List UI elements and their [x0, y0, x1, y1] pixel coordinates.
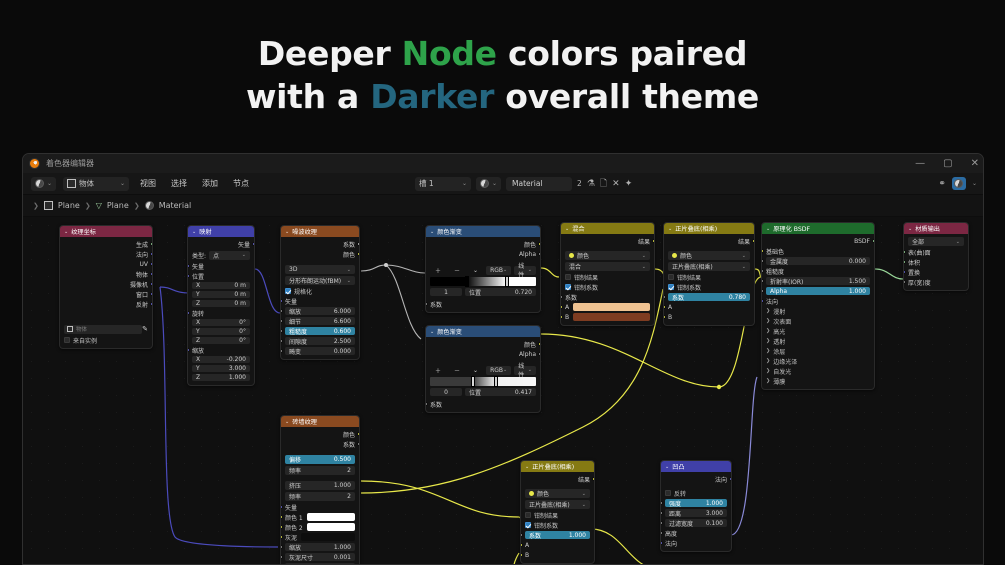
mortar-smooth-field[interactable]: 灰泥平滑1.000	[285, 563, 355, 564]
socket-label: 系数	[343, 240, 355, 249]
input-socket[interactable]	[761, 259, 764, 263]
color-b-swatch[interactable]	[573, 313, 650, 321]
color-ramp-gradient[interactable]	[430, 277, 536, 286]
input-socket[interactable]	[903, 260, 906, 264]
group-thin-film[interactable]: ❯薄膜	[766, 377, 870, 385]
mesh-data-icon: ▽	[96, 201, 102, 210]
input-socket[interactable]	[280, 505, 283, 509]
scale-z-field[interactable]: Z1.000	[192, 374, 250, 381]
output-socket[interactable]	[752, 239, 755, 243]
input-socket[interactable]	[761, 269, 764, 273]
object-icon	[67, 326, 73, 332]
socket-label: 厚(宽)度	[908, 278, 931, 287]
socket-label: 反射	[136, 300, 148, 309]
page-headline: Deeper Node colors paired with a Darker …	[0, 0, 1005, 119]
mortar-size-field[interactable]: 灰泥尺寸0.001	[285, 553, 355, 561]
socket-label: 窗口	[136, 290, 148, 299]
chevron-down-icon: ⌄	[120, 180, 125, 187]
checkbox-icon	[565, 284, 571, 290]
menu-node[interactable]: 节点	[229, 178, 253, 189]
shading-type-dropdown[interactable]: 物体 ⌄	[63, 177, 129, 191]
clamp-factor-checkbox[interactable]: 钳制系数	[668, 283, 750, 291]
node-noise-texture[interactable]: ⌄ 噪波纹理 系数 颜色 3D⌄ 分形布朗运动(fBM)⌄ 规格化 矢量 缩放6…	[280, 225, 360, 360]
input-socket[interactable]	[903, 280, 906, 284]
menu-view[interactable]: 视图	[136, 178, 160, 189]
checkbox-icon	[668, 284, 674, 290]
breadcrumb-item-object[interactable]: Plane	[58, 201, 80, 210]
breadcrumb: ❯ Plane ❯ ▽ Plane ❯ Material	[23, 195, 983, 217]
copy-icon[interactable]: 🗋	[600, 176, 607, 192]
socket-label: 法向	[136, 250, 148, 259]
rotation-x-field[interactable]: X0°	[192, 319, 250, 326]
overlay-icon	[954, 179, 963, 188]
chevron-down-icon[interactable]: ⌄	[285, 229, 289, 235]
node-header[interactable]: ⌄ 正片叠底(相乘)	[664, 223, 754, 234]
input-socket[interactable]	[280, 309, 283, 313]
blend-mode-dropdown[interactable]: 正片叠底(相乘)⌄	[525, 500, 590, 509]
socket-label: 矢量	[285, 297, 297, 306]
ramp-stop[interactable]	[465, 276, 469, 287]
input-socket[interactable]	[280, 525, 283, 529]
data-type-dropdown[interactable]: 颜色⌄	[525, 489, 590, 498]
socket-label: 系数	[430, 400, 442, 409]
color-a-swatch[interactable]	[573, 303, 650, 311]
group-coat[interactable]: ❯涂层	[766, 347, 870, 355]
object-field[interactable]: 物体	[64, 325, 142, 334]
breadcrumb-separator: ❯	[85, 202, 91, 210]
shield-icon[interactable]: ⚗	[587, 179, 595, 189]
input-socket[interactable]	[660, 501, 663, 505]
roughness-field[interactable]: 粗糙度0.600	[285, 327, 355, 335]
editor-toolbar: ⌄ 物体 ⌄ 视图 选择 添加 节点 槽 1 ⌄ ⌄ Material 2 ⚗ …	[23, 173, 983, 195]
factor-field[interactable]: 系数1.000	[525, 531, 590, 539]
squash-field[interactable]: 挤压1.000	[285, 481, 355, 490]
input-socket[interactable]	[280, 515, 283, 519]
socket-label: 体积	[908, 258, 920, 267]
input-socket[interactable]	[280, 349, 283, 353]
lacunarity-field[interactable]: 间隙度2.500	[285, 337, 355, 345]
close-icon[interactable]: ✕	[971, 158, 979, 169]
node-header[interactable]: ⌄ 纹理坐标	[60, 226, 152, 237]
clamp-result-checkbox[interactable]: 钳制结果	[565, 273, 650, 281]
input-socket[interactable]	[187, 274, 190, 278]
clamp-factor-checkbox[interactable]: 钳制系数	[565, 283, 650, 291]
from-instance-checkbox[interactable]: 来自实例	[64, 336, 148, 344]
slot-label: 槽 1	[419, 178, 434, 189]
node-header[interactable]: ⌄ 材质输出	[904, 223, 968, 234]
chevron-right-icon: ❯	[766, 328, 770, 334]
input-socket[interactable]	[663, 305, 666, 309]
output-socket[interactable]	[729, 477, 732, 481]
node-texture-coordinate[interactable]: ⌄ 纹理坐标 生成 法向 UV 物体 摄像机 窗口 反射 物体 ✎	[59, 225, 153, 349]
chevron-down-icon[interactable]: ⌄	[972, 180, 977, 187]
output-socket[interactable]	[150, 292, 153, 296]
socket-label: 表(曲)面	[908, 248, 931, 257]
socket-label: 系数	[565, 293, 577, 302]
blender-window: 着色器编辑器 — ▢ ✕ ⌄ 物体 ⌄ 视图 选择 添加 节点 槽 1 ⌄ ⌄	[22, 153, 984, 565]
dimension-dropdown[interactable]: 3D⌄	[285, 265, 355, 274]
mapping-type-dropdown[interactable]: 点⌄	[209, 251, 250, 260]
object-field-value: 物体	[76, 325, 87, 333]
node-header[interactable]: ⌄ 映射	[188, 226, 254, 237]
ramp-index-field[interactable]: 1	[430, 288, 462, 296]
output-socket[interactable]	[150, 272, 153, 276]
input-socket[interactable]	[761, 299, 764, 303]
clamp-result-checkbox[interactable]: 钳制结果	[668, 273, 750, 281]
headline-part1: Deeper	[258, 34, 402, 73]
socket-label: 颜色 1	[285, 513, 303, 522]
output-socket[interactable]	[872, 239, 875, 243]
socket-label: 系数	[430, 300, 442, 309]
metallic-field[interactable]: 金属度0.000	[766, 257, 870, 265]
ramp-menu-button[interactable]: ⌄	[468, 267, 483, 274]
chevron-down-icon[interactable]: ⌄	[430, 329, 434, 335]
color1-swatch[interactable]	[307, 513, 355, 521]
overlay-toggle[interactable]	[952, 177, 966, 190]
breadcrumb-item-material[interactable]: Material	[159, 201, 192, 210]
socket-label: 法向	[665, 539, 677, 548]
group-specular[interactable]: ❯高光	[766, 327, 870, 335]
location-x-field[interactable]: X0 m	[192, 282, 250, 289]
node-title: 正片叠底(相乘)	[675, 224, 717, 233]
chevron-down-icon[interactable]: ⌄	[285, 419, 289, 425]
scale-field[interactable]: 缩放1.000	[285, 543, 355, 551]
detail-field[interactable]: 细节6.600	[285, 317, 355, 325]
editor-type-button[interactable]: ⌄	[31, 177, 56, 191]
interpolation-dropdown[interactable]: 线性⌄	[514, 266, 536, 275]
node-multiply-1[interactable]: ⌄ 正片叠底(相乘) 结果 颜色⌄ 正片叠底(相乘)⌄ 钳制结果 钳制系数 系数…	[663, 222, 755, 326]
node-principled-bsdf[interactable]: ⌄ 原理化 BSDF BSDF 基础色 金属度0.000 粗糙度 折射率(IOR…	[761, 222, 875, 390]
output-socket[interactable]	[150, 262, 153, 266]
ramp-index-field[interactable]: 0	[430, 388, 462, 396]
add-stop-button[interactable]: ＋	[430, 266, 446, 275]
toolbar-right-tools: ⚭ ⌄	[938, 177, 977, 190]
input-socket[interactable]	[560, 295, 563, 299]
factor-field[interactable]: 系数0.780	[668, 293, 750, 301]
invert-checkbox[interactable]: 反转	[665, 489, 727, 497]
node-header[interactable]: ⌄ 颜色渐变	[426, 226, 540, 237]
mortar-swatch[interactable]	[301, 533, 355, 541]
ramp-stop-selected[interactable]	[471, 376, 475, 387]
shading-type-label: 物体	[79, 178, 94, 189]
input-socket[interactable]	[280, 299, 283, 303]
color-mode-dropdown[interactable]: RGB⌄	[486, 266, 511, 275]
node-title: 噪波纹理	[292, 227, 317, 236]
socket-label: 矢量	[192, 262, 204, 271]
snap-icon[interactable]: ⚭	[938, 179, 946, 189]
add-stop-button[interactable]: ＋	[430, 366, 446, 375]
node-title: 纹理坐标	[71, 227, 96, 236]
group-sheen[interactable]: ❯边缘光泽	[766, 357, 870, 365]
group-diffuse[interactable]: ❯漫射	[766, 307, 870, 315]
input-socket[interactable]	[663, 315, 666, 319]
material-browse-button[interactable]: ⌄	[476, 177, 501, 191]
output-socket[interactable]	[538, 342, 541, 346]
chevron-down-icon[interactable]: ⌄	[908, 226, 912, 232]
node-title: 映射	[199, 227, 211, 236]
normalize-checkbox[interactable]: 规格化	[285, 287, 355, 295]
ramp-stop-selected[interactable]	[505, 276, 509, 287]
location-y-field[interactable]: Y0 m	[192, 291, 250, 298]
input-socket[interactable]	[280, 555, 283, 559]
input-socket[interactable]	[903, 270, 906, 274]
material-name-field[interactable]: Material	[506, 177, 572, 191]
group-subsurface[interactable]: ❯次表面	[766, 317, 870, 325]
output-socket[interactable]	[252, 242, 255, 246]
chevron-down-icon[interactable]: ⌄	[766, 226, 770, 232]
window-title: 着色器编辑器	[46, 158, 94, 169]
minimize-icon[interactable]: —	[915, 158, 925, 169]
socket-label: 矢量	[238, 240, 250, 249]
blend-mode-dropdown[interactable]: 正片叠底(相乘)⌄	[668, 262, 750, 271]
distortion-field[interactable]: 畸变0.000	[285, 347, 355, 355]
rotation-y-field[interactable]: Y0°	[192, 328, 250, 335]
input-socket[interactable]	[280, 319, 283, 323]
input-socket[interactable]	[187, 348, 190, 352]
material-icon	[145, 201, 154, 210]
headline-accent-darker: Darker	[370, 77, 494, 116]
window-controls: — ▢ ✕	[915, 154, 979, 173]
socket-label: B	[668, 314, 672, 321]
headline-part2: colors paired	[497, 34, 747, 73]
output-socket[interactable]	[150, 302, 153, 306]
node-material-output[interactable]: ⌄ 材质输出 全部⌄ 表(曲)面 体积 置换 厚(宽)度	[903, 222, 969, 291]
socket-label: 物体	[136, 270, 148, 279]
node-title: 砖墙纹理	[292, 417, 317, 426]
output-socket[interactable]	[357, 442, 360, 446]
input-socket[interactable]	[280, 339, 283, 343]
checkbox-icon	[525, 512, 531, 518]
input-socket[interactable]	[280, 329, 283, 333]
output-socket[interactable]	[652, 239, 655, 243]
input-socket[interactable]	[663, 295, 666, 299]
headline-part4: overall theme	[494, 77, 759, 116]
blender-logo-icon	[29, 158, 40, 169]
chevron-right-icon: ❯	[766, 368, 770, 374]
checkbox-icon	[668, 274, 674, 280]
node-multiply-2[interactable]: ⌄ 正片叠底(相乘) 结果 颜色⌄ 正片叠底(相乘)⌄ 钳制结果 钳制系数 系数…	[520, 460, 595, 564]
node-editor-canvas[interactable]: ⌄ 纹理坐标 生成 法向 UV 物体 摄像机 窗口 反射 物体 ✎	[23, 217, 983, 564]
output-socket[interactable]	[592, 477, 595, 481]
node-title: 材质输出	[915, 224, 940, 233]
socket-label: 颜色	[524, 340, 536, 349]
input-socket[interactable]	[903, 250, 906, 254]
group-label: 缩放	[192, 346, 204, 355]
input-socket[interactable]	[280, 545, 283, 549]
headline-accent-node: Node	[402, 34, 497, 73]
filter-width-field[interactable]: 过滤宽度0.100	[665, 519, 727, 527]
input-socket[interactable]	[560, 315, 563, 319]
socket-label: B	[565, 314, 569, 321]
checkbox-label: 来自实例	[73, 336, 97, 345]
input-socket[interactable]	[520, 533, 523, 537]
breadcrumb-expand-icon[interactable]: ❯	[33, 202, 39, 210]
data-type-dropdown[interactable]: 颜色⌄	[565, 251, 650, 260]
squash-frequency-field[interactable]: 频率2	[285, 492, 355, 501]
chevron-right-icon: ❯	[766, 378, 770, 384]
node-title: 原理化 BSDF	[773, 224, 810, 233]
fractal-type-dropdown[interactable]: 分形布朗运动(fBM)⌄	[285, 276, 355, 285]
chevron-right-icon: ❯	[766, 338, 770, 344]
group-emission[interactable]: ❯自发光	[766, 367, 870, 375]
output-socket[interactable]	[150, 242, 153, 246]
type-label: 类型:	[192, 251, 206, 260]
chevron-down-icon[interactable]: ⌄	[525, 464, 529, 470]
location-z-field[interactable]: Z0 m	[192, 300, 250, 307]
ior-field[interactable]: 折射率(IOR)1.500	[766, 277, 870, 285]
node-title: 混合	[572, 224, 584, 233]
node-color-ramp-1[interactable]: ⌄ 颜色渐变 颜色 Alpha ＋ － ⌄ RGB⌄ 线性⌄	[425, 225, 541, 313]
color-ramp-gradient[interactable]	[430, 377, 536, 386]
output-socket[interactable]	[357, 242, 360, 246]
socket-label: 法向	[766, 297, 778, 306]
node-mapping[interactable]: ⌄ 映射 矢量 类型: 点⌄ 矢量 位置 X0 m Y0 m Z0 m 旋转 X…	[187, 225, 255, 386]
socket-label: 矢量	[285, 503, 297, 512]
socket-label: Alpha	[519, 351, 536, 358]
data-type-dropdown[interactable]: 颜色⌄	[668, 251, 750, 260]
input-socket[interactable]	[425, 302, 428, 306]
clamp-factor-checkbox[interactable]: 钳制系数	[525, 521, 590, 529]
input-socket[interactable]	[660, 541, 663, 545]
input-socket[interactable]	[280, 535, 283, 539]
object-icon	[44, 201, 53, 210]
chevron-down-icon[interactable]: ⌄	[565, 226, 569, 232]
node-color-ramp-2[interactable]: ⌄ 颜色渐变 颜色 Alpha ＋ － ⌄ RGB⌄ 线性⌄	[425, 325, 541, 413]
offset-field[interactable]: 偏移0.500	[285, 455, 355, 464]
node-bump[interactable]: ⌄ 凹凸 法向 反转 强度1.000 距离3.000 过滤宽度0.100 高度 …	[660, 460, 732, 552]
node-header[interactable]: ⌄ 正片叠底(相乘)	[521, 461, 594, 472]
input-socket[interactable]	[660, 521, 663, 525]
input-socket[interactable]	[187, 311, 190, 315]
chevron-down-icon[interactable]: ⌄	[665, 464, 669, 470]
color2-swatch[interactable]	[307, 523, 355, 531]
pin-icon[interactable]: ✦	[625, 179, 633, 189]
socket-label: 颜色	[343, 250, 355, 259]
scale-x-field[interactable]: X-0.200	[192, 356, 250, 363]
group-transmission[interactable]: ❯透射	[766, 337, 870, 345]
target-dropdown[interactable]: 全部⌄	[908, 237, 964, 246]
chevron-right-icon: ❯	[766, 358, 770, 364]
socket-label: BSDF	[854, 238, 870, 245]
offset-frequency-field[interactable]: 频率2	[285, 466, 355, 475]
interpolation-dropdown[interactable]: 线性⌄	[514, 366, 536, 375]
node-header[interactable]: ⌄ 噪波纹理	[281, 226, 359, 237]
input-socket[interactable]	[560, 305, 563, 309]
slot-dropdown[interactable]: 槽 1 ⌄	[415, 177, 471, 191]
menu-add[interactable]: 添加	[198, 178, 222, 189]
socket-label: 颜色	[524, 240, 536, 249]
scale-field[interactable]: 缩放6.000	[285, 307, 355, 315]
output-socket[interactable]	[357, 432, 360, 436]
input-socket[interactable]	[660, 531, 663, 535]
socket-label: 灰泥	[285, 533, 297, 542]
ramp-position-field[interactable]: 位置0.720	[465, 288, 536, 296]
chevron-down-icon[interactable]: ⌄	[64, 229, 68, 235]
socket-label: 结果	[738, 237, 750, 246]
socket-label: A	[668, 304, 672, 311]
input-socket[interactable]	[520, 553, 523, 557]
material-user-count[interactable]: 2	[577, 179, 582, 188]
input-socket[interactable]	[425, 402, 428, 406]
chevron-down-icon: ⌄	[462, 180, 467, 187]
checkbox-icon	[665, 490, 671, 496]
strength-field[interactable]: 强度1.000	[665, 499, 727, 507]
input-socket[interactable]	[761, 279, 764, 283]
type-value: 点	[213, 251, 219, 260]
remove-stop-button[interactable]: －	[449, 366, 465, 375]
output-socket[interactable]	[538, 252, 541, 256]
blend-mode-dropdown[interactable]: 混合⌄	[565, 262, 650, 271]
input-socket[interactable]	[761, 249, 764, 253]
input-socket[interactable]	[761, 289, 764, 293]
socket-label: 颜色	[343, 430, 355, 439]
output-socket[interactable]	[150, 252, 153, 256]
material-tools: 槽 1 ⌄ ⌄ Material 2 ⚗ 🗋 ✕ ✦	[415, 176, 632, 192]
node-header[interactable]: ⌄ 砖墙纹理	[281, 416, 359, 427]
clamp-result-checkbox[interactable]: 钳制结果	[525, 511, 590, 519]
checkbox-icon	[285, 288, 291, 294]
chevron-down-icon[interactable]: ⌄	[192, 229, 196, 235]
node-brick-texture[interactable]: ⌄ 砖墙纹理 颜色 系数 偏移0.500 频率2 挤压1.000 频率2 矢量 …	[280, 415, 360, 564]
maximize-icon[interactable]: ▢	[943, 158, 952, 169]
window-titlebar: 着色器编辑器 — ▢ ✕	[23, 154, 983, 173]
output-socket[interactable]	[538, 242, 541, 246]
unlink-icon[interactable]: ✕	[612, 179, 620, 189]
node-title: 颜色渐变	[437, 227, 462, 236]
node-header[interactable]: ⌄ 颜色渐变	[426, 326, 540, 337]
node-title: 正片叠底(相乘)	[532, 462, 574, 471]
input-socket[interactable]	[660, 511, 663, 515]
rotation-z-field[interactable]: Z0°	[192, 337, 250, 344]
breadcrumb-item-mesh[interactable]: Plane	[107, 201, 129, 210]
socket-label: A	[565, 304, 569, 311]
output-socket[interactable]	[150, 282, 153, 286]
output-socket[interactable]	[538, 352, 541, 356]
node-header[interactable]: ⌄ 凹凸	[661, 461, 731, 472]
node-header[interactable]: ⌄ 原理化 BSDF	[762, 223, 874, 234]
distance-field[interactable]: 距离3.000	[665, 509, 727, 517]
input-socket[interactable]	[187, 264, 190, 268]
color-mode-dropdown[interactable]: RGB⌄	[486, 366, 511, 375]
socket-label: Alpha	[519, 251, 536, 258]
node-mix[interactable]: ⌄ 混合 结果 颜色⌄ 混合⌄ 钳制结果 钳制系数 系数 A B	[560, 222, 655, 326]
input-socket[interactable]	[520, 543, 523, 547]
remove-stop-button[interactable]: －	[449, 266, 465, 275]
socket-label: B	[525, 552, 529, 559]
output-socket[interactable]	[357, 252, 360, 256]
group-label: 位置	[192, 272, 204, 281]
socket-label: 结果	[638, 237, 650, 246]
material-icon	[480, 179, 489, 188]
socket-label: 高度	[665, 529, 677, 538]
ramp-menu-button[interactable]: ⌄	[468, 367, 483, 374]
menu-select[interactable]: 选择	[167, 178, 191, 189]
ramp-position-field[interactable]: 位置0.417	[465, 388, 536, 396]
eyedropper-icon[interactable]: ✎	[142, 325, 148, 333]
chevron-down-icon[interactable]: ⌄	[668, 226, 672, 232]
breadcrumb-separator: ❯	[134, 202, 140, 210]
socket-label: 摄像机	[130, 280, 148, 289]
shader-editor-icon	[35, 179, 44, 188]
scale-y-field[interactable]: Y3.000	[192, 365, 250, 372]
ramp-stop[interactable]	[494, 376, 498, 387]
chevron-right-icon: ❯	[766, 308, 770, 314]
alpha-field[interactable]: Alpha1.000	[766, 287, 870, 295]
chevron-down-icon[interactable]: ⌄	[430, 229, 434, 235]
socket-label: 生成	[136, 240, 148, 249]
checkbox-icon	[565, 274, 571, 280]
node-header[interactable]: ⌄ 混合	[561, 223, 654, 234]
